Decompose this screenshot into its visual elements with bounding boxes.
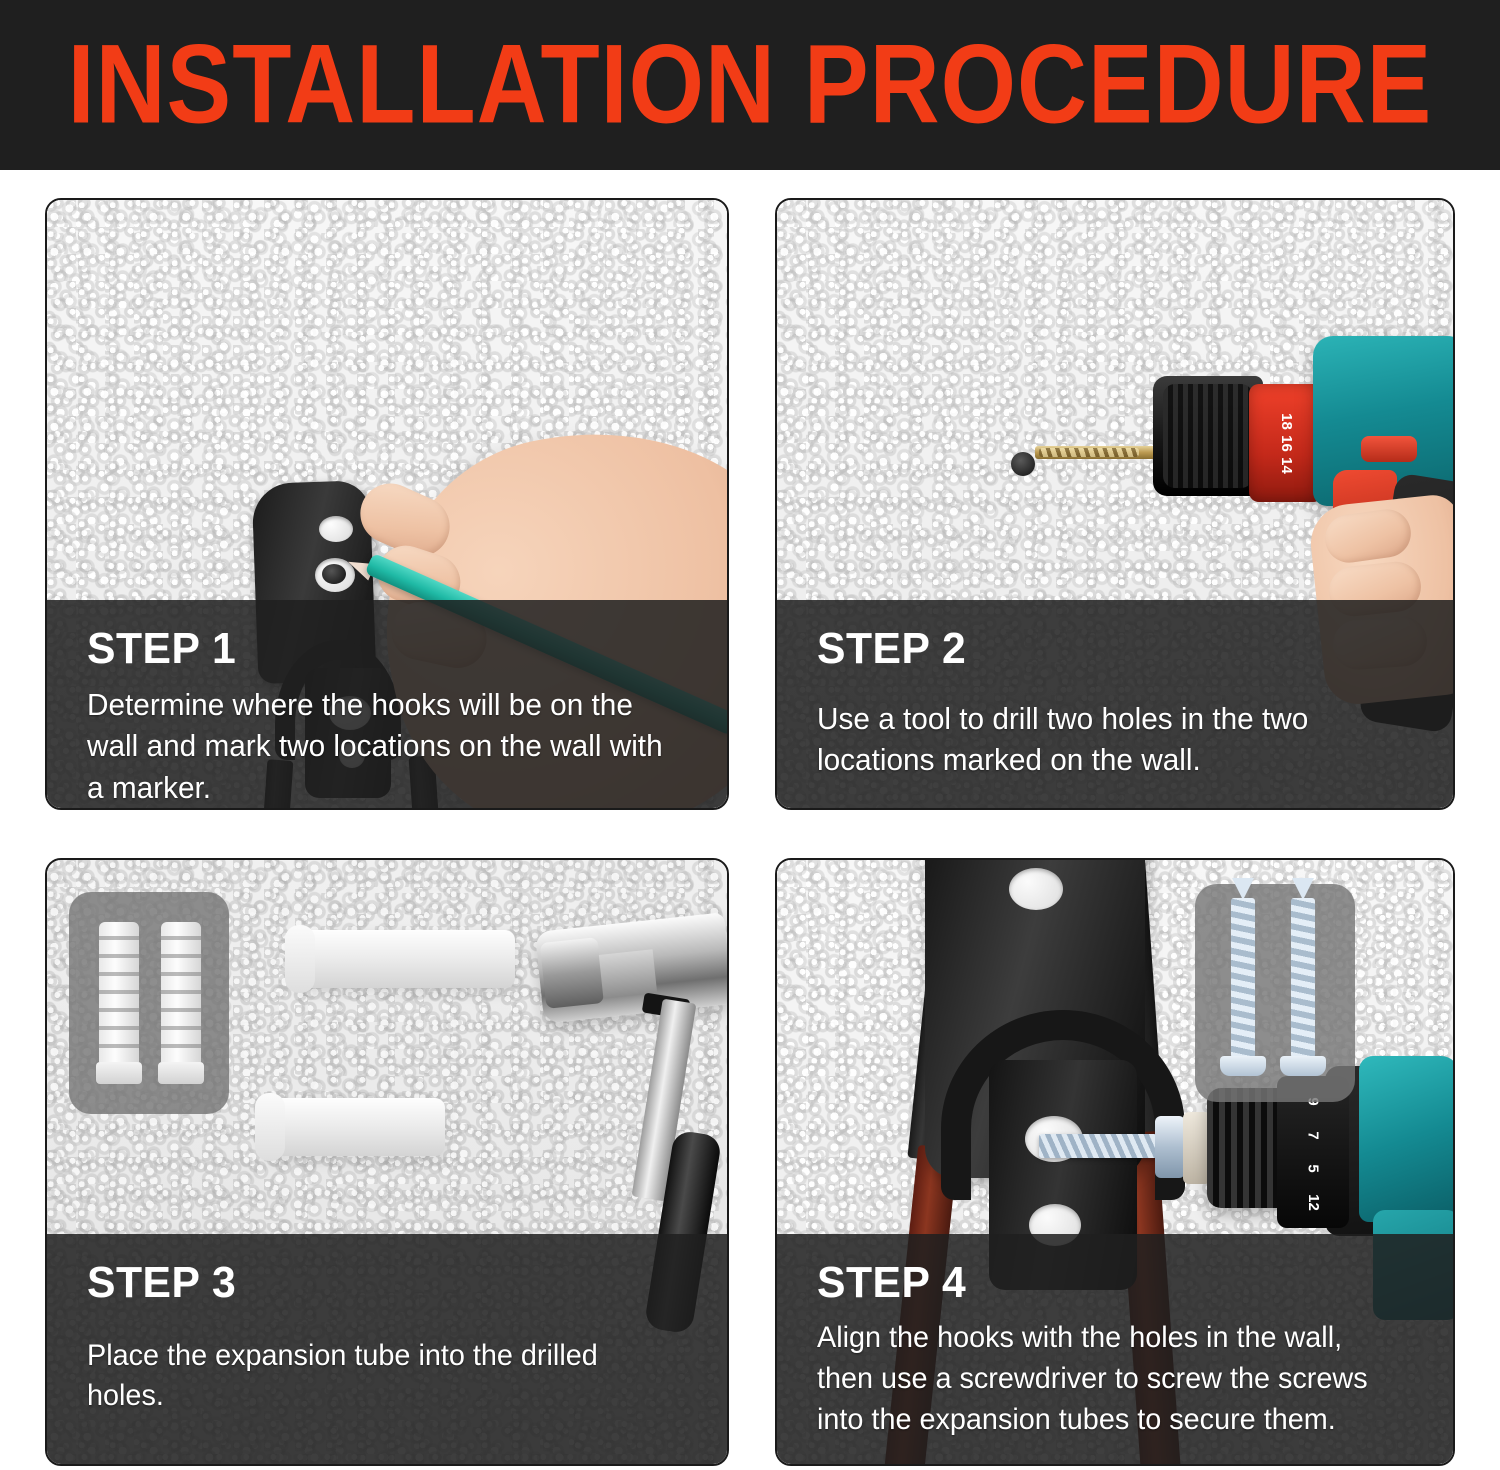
dial-number-5: 5 [1305,1165,1322,1173]
step-1-caption: STEP 1 Determine where the hooks will be… [47,600,727,808]
hook-pole-right-red [410,809,454,810]
screw-tip [1292,878,1314,900]
anchor-ribs [99,922,139,1082]
page-header: INSTALLATION PROCEDURE [0,0,1500,170]
tube-cap [285,925,315,993]
screw-tip [1232,878,1254,900]
step-2-caption: STEP 2 Use a tool to drill two holes in … [777,600,1453,808]
step-4-body: Align the hooks with the holes in the wa… [817,1318,1395,1440]
screw-head [1220,1056,1266,1076]
step-panel-4: 9 7 5 12 STEP 4 Align the hooks with the… [775,858,1455,1466]
hammer-neck [599,949,657,998]
step-1-body: Determine where the hooks will be on the… [87,684,669,808]
zinc-screw-driven [1039,1134,1163,1158]
anchor-collar [96,1062,142,1084]
marked-hole [1011,452,1035,476]
pencil-mark-dot [322,564,346,584]
expansion-tube-1 [295,930,515,988]
collar-number-18: 18 [1278,413,1295,430]
step-4-label: STEP 4 [817,1260,1401,1306]
page-title: INSTALLATION PROCEDURE [68,21,1433,150]
drill-torque-collar: 18 16 14 [1249,384,1323,502]
zinc-screw-1 [1231,898,1255,1084]
wall-anchor-1 [99,922,139,1082]
collar-number-14: 14 [1278,457,1295,474]
screw-head [1155,1116,1185,1178]
collar-number-16: 16 [1278,435,1295,452]
drill-direction-switch [1361,436,1417,462]
hammer-face [540,937,605,1009]
anchor-collar [158,1062,204,1084]
tube-cap [255,1093,285,1161]
screw-head [1280,1056,1326,1076]
step-2-body: Use a tool to drill two holes in the two… [817,698,1395,780]
step-3-caption: STEP 3 Place the expansion tube into the… [47,1234,727,1464]
screws-inset [1195,884,1355,1102]
dial-number-7: 7 [1305,1131,1322,1139]
step-panel-1: STEP 1 Determine where the hooks will be… [45,198,729,810]
step-3-body: Place the expansion tube into the drille… [87,1336,669,1416]
zinc-screw-2 [1291,898,1315,1084]
step-4-caption: STEP 4 Align the hooks with the holes in… [777,1234,1453,1464]
step-2-label: STEP 2 [817,626,1401,672]
wall-anchor-2 [161,922,201,1082]
dial-number-12: 12 [1305,1194,1322,1211]
anchor-ribs [161,922,201,1082]
step-panel-2: 18 16 14 STEP 2 Use a tool to drill two … [775,198,1455,810]
drill-bit-flutes [1039,448,1139,457]
bracket-hole-top [1009,868,1063,910]
wall-anchors-inset [69,892,229,1114]
screw-shaft [1231,898,1255,1058]
step-1-label: STEP 1 [87,626,675,672]
drill-chuck-ribs [1163,384,1253,488]
screw-shaft [1291,898,1315,1058]
bracket-hole-upper [319,516,353,542]
step-panel-3: STEP 3 Place the expansion tube into the… [45,858,729,1466]
expansion-tube-2 [265,1098,445,1156]
step-3-label: STEP 3 [87,1260,675,1306]
driver-teal-shell [1359,1056,1455,1222]
